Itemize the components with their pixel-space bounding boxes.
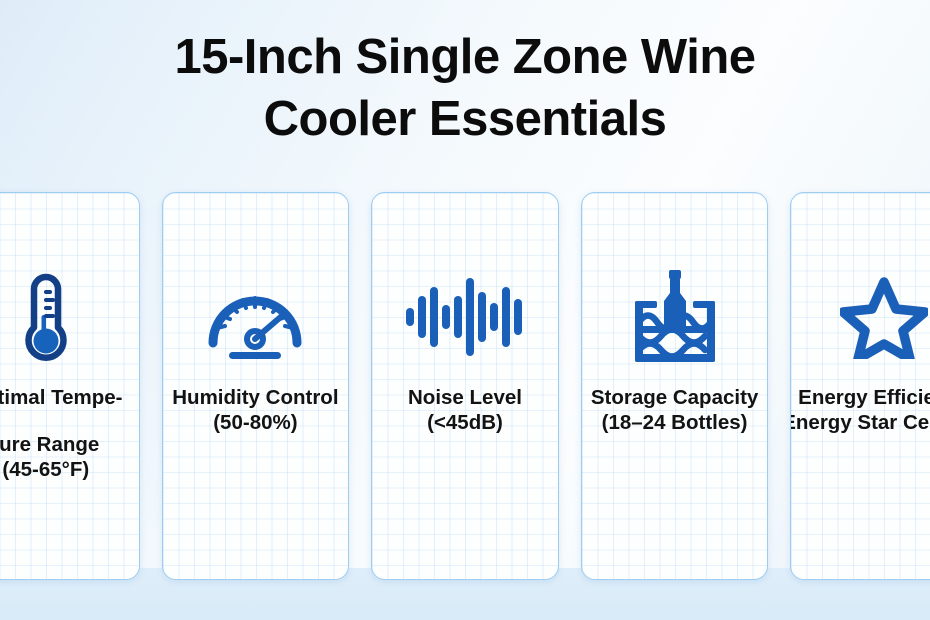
card-sublabel: (45-65°F) xyxy=(2,457,89,482)
feature-card-noise[interactable]: Noise Level (<45dB) xyxy=(371,192,559,580)
wine-rack-icon xyxy=(629,271,721,363)
feature-card-temperature[interactable]: Optimal Tempe- ture Range (45-65°F) xyxy=(0,192,140,580)
card-label: Energy Efficiency xyxy=(791,385,930,410)
title-line-1: 15-Inch Single Zone Wine xyxy=(0,26,930,88)
card-label: Noise Level xyxy=(372,385,558,410)
card-sublabel: (50-80%) xyxy=(213,410,297,435)
page-title: 15-Inch Single Zone Wine Cooler Essentia… xyxy=(0,26,930,150)
feature-card-humidity[interactable]: Humidity Control (50-80%) xyxy=(162,192,350,580)
feature-cards-row: Optimal Tempe- ture Range (45-65°F) xyxy=(0,192,930,580)
gauge-icon xyxy=(203,271,307,363)
thermometer-icon xyxy=(13,271,79,363)
card-label-line2: ture Range xyxy=(0,432,139,457)
card-label: Optimal Tempe- xyxy=(0,385,139,410)
feature-card-storage[interactable]: Storage Capacity (18–24 Bottles) xyxy=(581,192,769,580)
soundwave-icon xyxy=(404,271,526,363)
card-sublabel: (18–24 Bottles) xyxy=(602,410,748,435)
card-sublabel: (Energy Star Certified) xyxy=(790,410,930,435)
star-icon xyxy=(840,271,928,363)
feature-card-energy[interactable]: Energy Efficiency (Energy Star Certified… xyxy=(790,192,930,580)
card-label: Storage Capacity xyxy=(582,385,768,410)
infographic-canvas: 15-Inch Single Zone Wine Cooler Essentia… xyxy=(0,0,930,620)
card-sublabel: (<45dB) xyxy=(427,410,503,435)
card-label: Humidity Control xyxy=(163,385,349,410)
title-line-2: Cooler Essentials xyxy=(0,88,930,150)
